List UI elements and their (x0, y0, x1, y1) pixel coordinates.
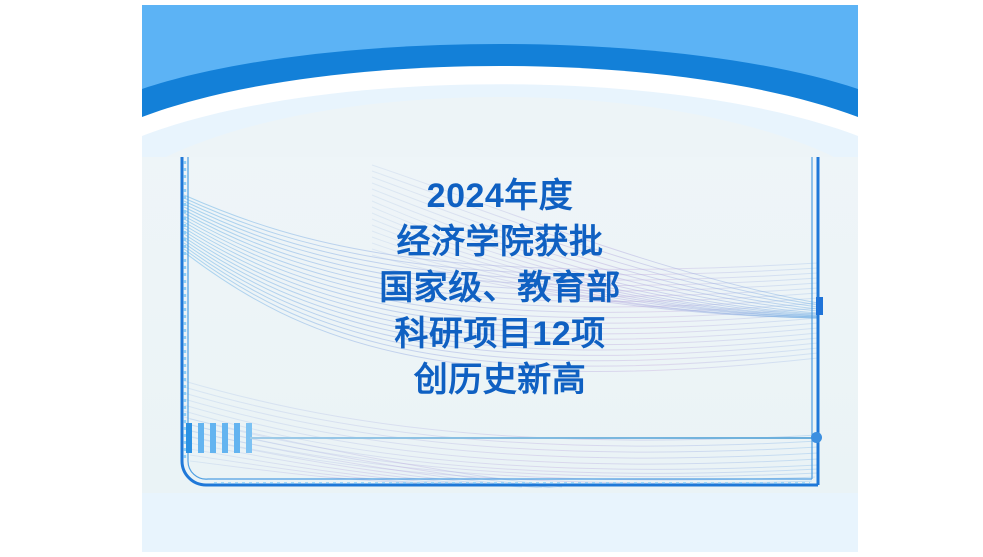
title-line-4: 科研项目12项 (180, 311, 820, 357)
slide-canvas: 2024年度 经济学院获批 国家级、教育部 科研项目12项 创历史新高 (142, 5, 858, 552)
title-line-2: 经济学院获批 (180, 219, 820, 265)
title-line-3: 国家级、教育部 (180, 265, 820, 311)
title-line-1: 2024年度 (180, 173, 820, 219)
header-band (142, 5, 858, 157)
header-band-svg (142, 5, 858, 157)
slide-title: 2024年度 经济学院获批 国家级、教育部 科研项目12项 创历史新高 (180, 173, 820, 403)
title-line-5: 创历史新高 (180, 357, 820, 403)
